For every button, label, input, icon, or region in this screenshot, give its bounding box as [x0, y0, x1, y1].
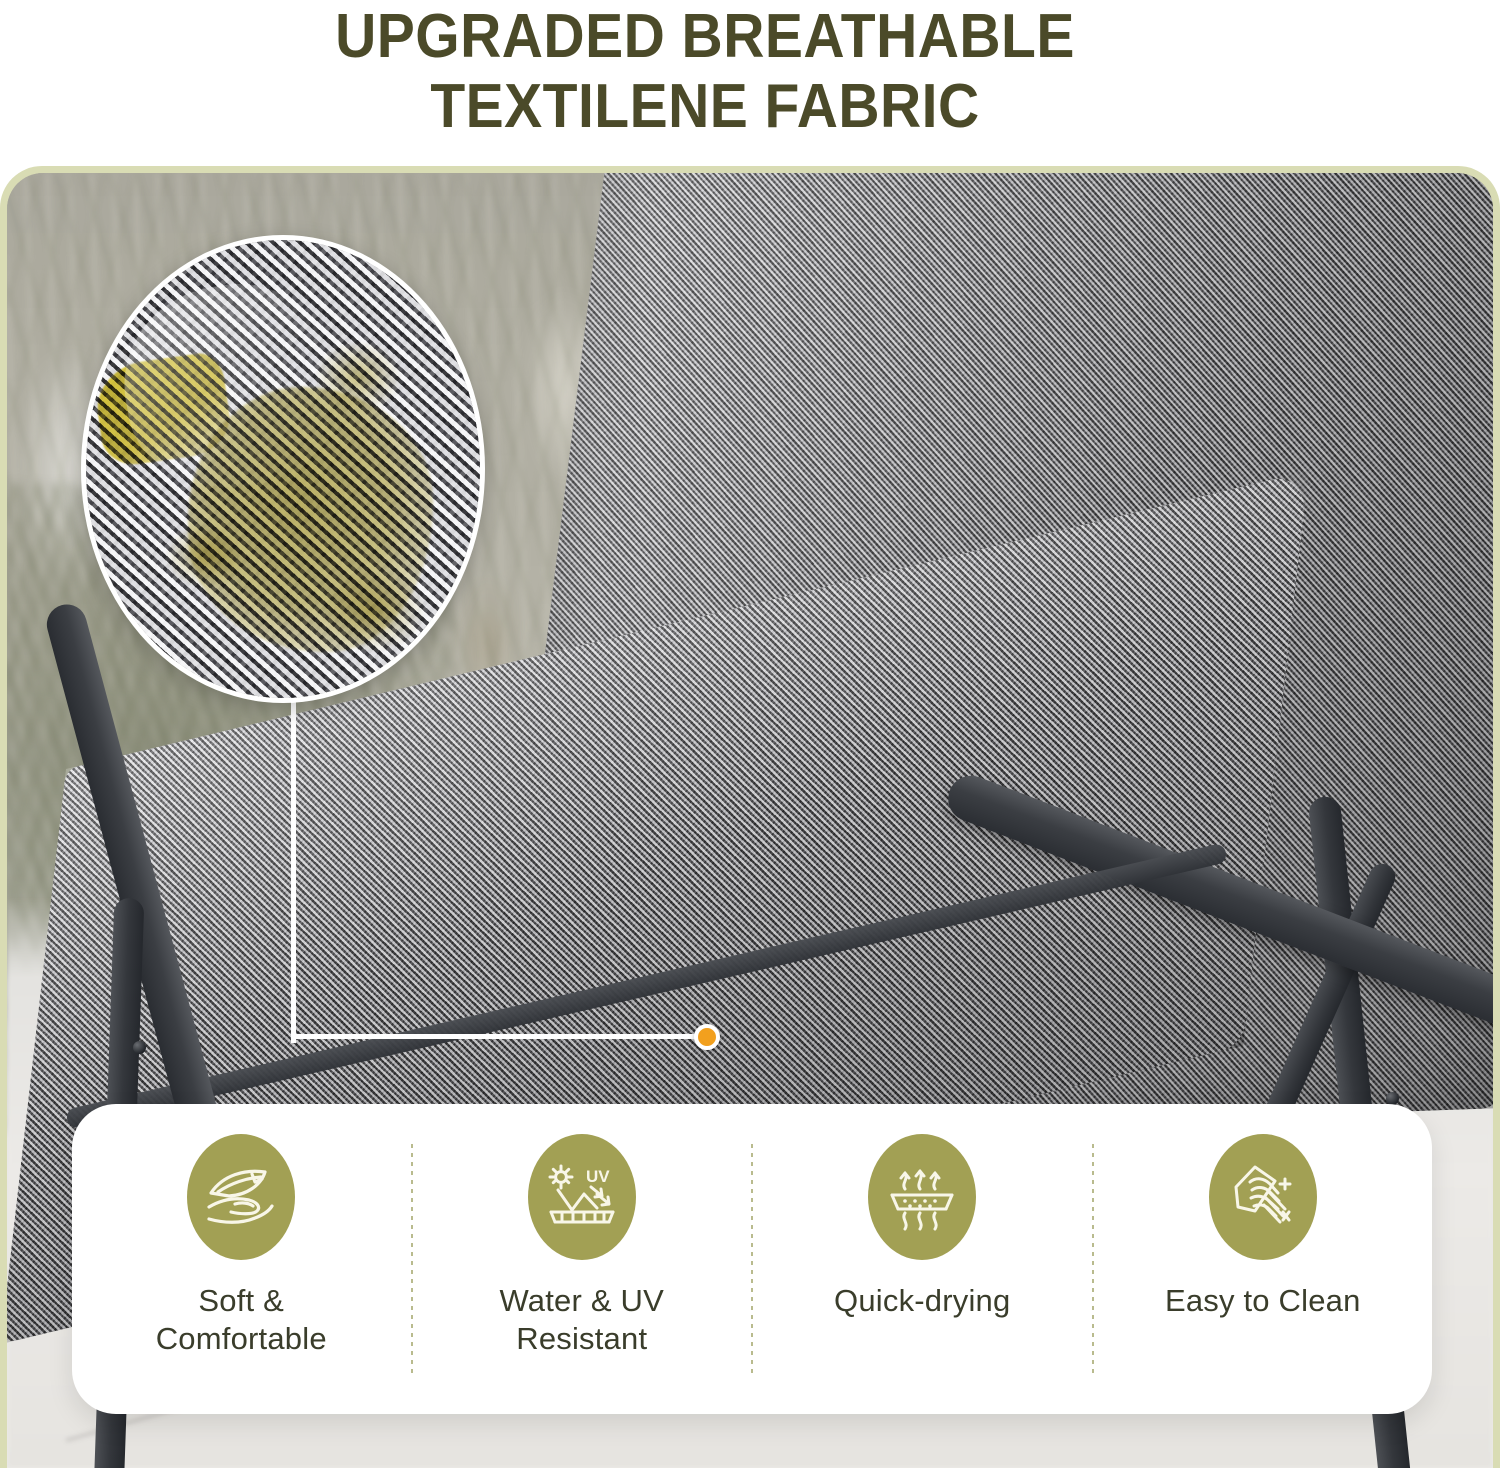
headline-line-2: TEXTILENE FABRIC	[56, 72, 1353, 142]
product-feature-banner: UPGRADED BREATHABLE TEXTILENE FABRIC	[0, 0, 1500, 1468]
feature-label: Easy to Clean	[1165, 1282, 1361, 1320]
liquid-spill-splash	[322, 570, 424, 652]
wipe-clean-cloth-icon	[1209, 1134, 1317, 1260]
feature-easy-to-clean[interactable]: Easy to Clean	[1094, 1104, 1433, 1414]
sun-uv-water-repel-icon: UV	[528, 1134, 636, 1260]
feature-label: Soft & Comfortable	[156, 1282, 327, 1358]
feature-label-line-1: Water & UV	[500, 1283, 665, 1318]
feature-label-line-1: Quick-drying	[834, 1283, 1010, 1318]
feature-label: Water & UV Resistant	[500, 1282, 665, 1358]
feature-highlights-card: Soft & Comfortable UV	[72, 1104, 1432, 1414]
feature-label-line-1: Easy to Clean	[1165, 1283, 1361, 1318]
frame-rivet	[133, 1041, 146, 1054]
feature-label-line-2: Resistant	[516, 1321, 647, 1356]
hand-holding-leaf-icon	[187, 1134, 295, 1260]
feature-soft-comfortable[interactable]: Soft & Comfortable	[72, 1104, 411, 1414]
feature-quick-drying[interactable]: Quick-drying	[753, 1104, 1092, 1414]
callout-anchor-dot	[694, 1024, 720, 1050]
fabric-zoom-inset	[81, 235, 485, 703]
callout-line-vertical	[291, 701, 296, 1043]
feature-label-line-1: Soft &	[198, 1283, 284, 1318]
page-title: UPGRADED BREATHABLE TEXTILENE FABRIC	[56, 2, 1353, 142]
feature-label: Quick-drying	[834, 1282, 1010, 1320]
liquid-spill-splash	[165, 524, 244, 588]
quick-drying-airflow-icon	[868, 1134, 976, 1260]
feature-label-line-2: Comfortable	[156, 1321, 327, 1356]
feature-water-uv-resistant[interactable]: UV Water & UV Resistant	[413, 1104, 752, 1414]
callout-line-horizontal	[291, 1034, 711, 1039]
svg-text:UV: UV	[586, 1167, 610, 1186]
headline-line-1: UPGRADED BREATHABLE	[335, 2, 1075, 71]
